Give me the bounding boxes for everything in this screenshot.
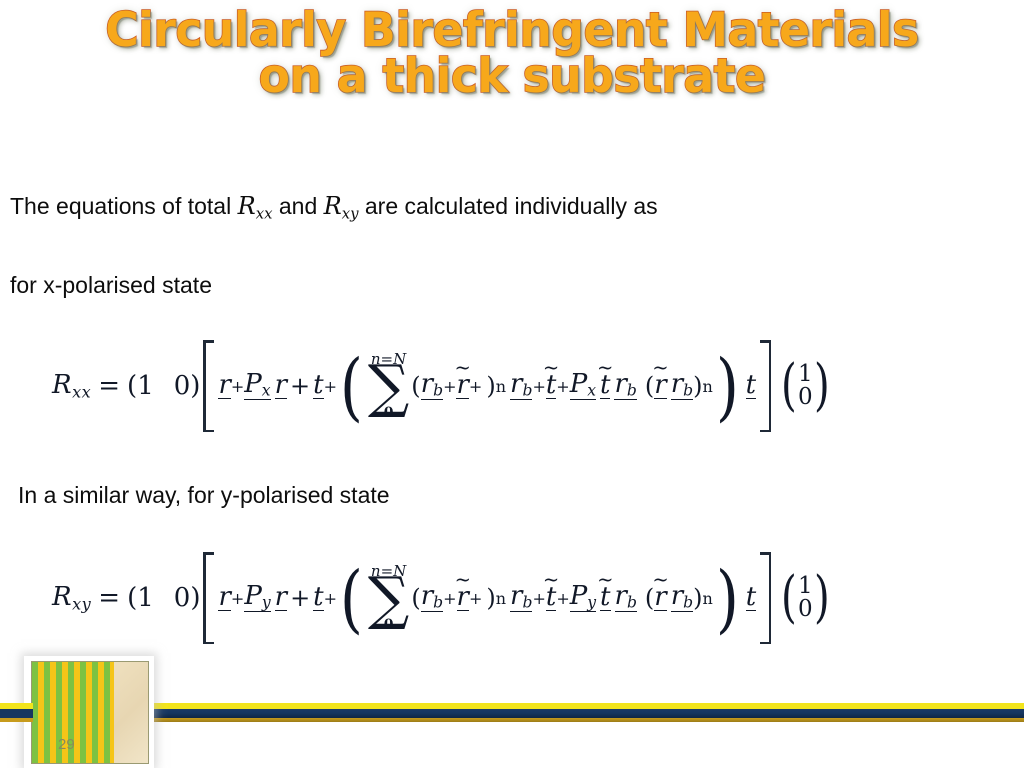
bracket-open-icon-2 — [203, 552, 215, 644]
rxx-subscript: xx — [256, 204, 273, 222]
lhs-subscript: xx — [72, 383, 91, 402]
inline-math-rxy: Rxy — [324, 192, 359, 220]
inner-P-subscript-2: y — [587, 593, 596, 611]
r2-symbol-2: r — [275, 582, 287, 612]
slide-title: Circularly Birefringent Materials on a t… — [0, 8, 1024, 100]
intro-prefix: The equations of total — [10, 193, 238, 219]
bracket-close-icon — [759, 340, 771, 432]
sum-lower-limit: 0 — [384, 406, 394, 420]
tilde-icon-6: ~ — [543, 571, 559, 590]
inner-term-rb-3: rb — [614, 372, 636, 400]
sigma-icon-2: ∑ — [368, 575, 409, 621]
t-final-symbol: t — [746, 370, 756, 400]
term-P-y: Py — [244, 584, 270, 612]
row-vector-2-item-1: 0 — [174, 583, 191, 613]
term-P-x: Px — [244, 372, 270, 400]
rb3-subscript-2: b — [627, 593, 637, 611]
equals-sign-2: = — [91, 583, 127, 613]
rb2-symbol-2: r — [510, 581, 522, 611]
inner-paren-open: ( — [411, 372, 420, 400]
rb2-superscript: + — [532, 377, 545, 396]
term-r: r — [275, 373, 287, 400]
r-dagger-superscript: + — [231, 377, 244, 396]
t-tilde-superscript: + — [556, 377, 569, 396]
multilayer-slab — [31, 661, 149, 764]
tilde-icon-8: ~ — [652, 571, 668, 590]
r-symbol: r — [218, 370, 230, 400]
inner-paren-close-4: ) — [693, 584, 702, 612]
inner-term-rb-4: rb — [671, 372, 693, 400]
inner-term-rb-7: rb — [615, 584, 637, 612]
paren-close-icon: ) — [716, 365, 739, 411]
rb2-superscript-2: + — [532, 589, 545, 608]
inner-term-rb-5: rb — [421, 584, 443, 612]
title-line-2: on a thick substrate — [15, 54, 1008, 100]
exponent-n-2: n — [702, 377, 712, 396]
paren-close-icon-2: ) — [716, 577, 739, 623]
exponent-n: n — [496, 377, 506, 396]
col-vector-2-item-0: 1 — [798, 575, 813, 598]
x-polarised-label: for x-polarised state — [10, 272, 212, 299]
column-vector-2: ( 1 0 ) — [778, 575, 832, 622]
exponent-n-4: n — [703, 589, 713, 608]
row-vector-2: (10) — [127, 583, 200, 613]
inner-term-t-tilde: ~t — [546, 373, 556, 400]
inner-paren-close-3: ) — [486, 584, 495, 612]
intro-middle: and — [272, 193, 323, 219]
term-t-dagger: t — [313, 373, 323, 400]
paren-open-icon-2: ( — [340, 577, 363, 623]
r-dagger-superscript-2: + — [231, 589, 244, 608]
sigma-icon: ∑ — [368, 363, 409, 409]
equals-sign: = — [91, 371, 127, 401]
incoming-beam-segment — [0, 703, 33, 723]
term-t-final: t — [746, 373, 756, 400]
inner-paren-close: ) — [486, 372, 495, 400]
r-symbol-2: r — [218, 582, 230, 612]
summation-2: n=N ∑ 0 — [368, 564, 409, 631]
rb2-subscript: b — [522, 381, 532, 399]
rb2-subscript-2: b — [522, 593, 532, 611]
inner-term-r-tilde-4: ~r — [654, 585, 666, 612]
rb-superscript: + — [443, 377, 456, 396]
t-dagger-superscript-2: + — [324, 589, 337, 608]
colvec-2-paren-open: ( — [781, 581, 797, 616]
lhs-symbol-2: R — [52, 582, 72, 612]
slide-number: 29 — [58, 736, 75, 753]
rb-subscript: b — [433, 381, 443, 399]
paren-open-icon: ( — [340, 365, 363, 411]
inner-P-symbol-2: P — [570, 581, 588, 611]
term-r-dagger: r — [218, 373, 230, 400]
P-symbol-2: P — [244, 581, 262, 611]
t-symbol-2: t — [313, 582, 323, 612]
inner-term-P: Px — [570, 372, 596, 400]
plus-operator-2: + — [287, 584, 313, 612]
r-tilde-superscript: + — [469, 377, 482, 396]
rb-symbol-2: r — [421, 581, 433, 611]
tilde-icon-3: ~ — [597, 359, 613, 378]
equation-lhs: Rxx — [52, 370, 91, 402]
lhs-symbol: R — [52, 370, 72, 400]
inner-term-t-tilde-2: ~t — [600, 373, 610, 400]
incoming-beam-gold — [0, 718, 33, 722]
t-tilde-superscript-2: + — [556, 589, 569, 608]
rb-symbol: r — [421, 369, 433, 399]
colvec-2-paren-close: ) — [814, 581, 830, 616]
incoming-beam-navy — [0, 709, 33, 718]
rxy-symbol: R — [324, 192, 342, 220]
inner-term-rb: rb — [421, 372, 443, 400]
summation: n=N ∑ 0 — [368, 352, 409, 419]
rb4-subscript-2: b — [683, 593, 693, 611]
exponent-n-3: n — [496, 589, 506, 608]
rxx-symbol: R — [238, 192, 256, 220]
rb3-subscript: b — [627, 381, 637, 399]
intro-paragraph: The equations of total Rxx and Rxy are c… — [10, 192, 658, 222]
inner-term-rb-2: rb — [510, 372, 532, 400]
tilde-icon-4: ~ — [652, 359, 668, 378]
title-line-1: Circularly Birefringent Materials — [15, 8, 1008, 54]
inner-term-rb-8: rb — [671, 584, 693, 612]
term-r-dagger-2: r — [218, 585, 230, 612]
P-symbol: P — [244, 369, 262, 399]
term-t-dagger-2: t — [313, 585, 323, 612]
column-vector: ( 1 0 ) — [778, 363, 832, 410]
rb4-symbol: r — [671, 369, 683, 399]
inner-term-t-tilde-3: ~t — [546, 585, 556, 612]
inner-P-subscript: x — [587, 381, 596, 399]
P-subscript-2: y — [262, 593, 271, 611]
col-vector-item-0: 1 — [798, 363, 813, 386]
rb2-symbol: r — [510, 369, 522, 399]
rb3-symbol: r — [614, 369, 626, 399]
row-vector: (10) — [127, 371, 200, 401]
equation-lhs-2: Rxy — [52, 582, 91, 614]
rb4-subscript: b — [683, 381, 693, 399]
bracket-close-icon-2 — [759, 552, 771, 644]
rb-superscript-2: + — [443, 589, 456, 608]
t-dagger-superscript: + — [324, 377, 337, 396]
col-vector-2-item-1: 0 — [798, 598, 813, 621]
inner-paren-open-3: ( — [411, 584, 420, 612]
tilde-icon-2: ~ — [543, 359, 559, 378]
row-vector-item-0: 1 — [137, 371, 154, 401]
bracket-open-icon — [203, 340, 215, 432]
y-polarised-label: In a similar way, for y-polarised state — [18, 482, 390, 509]
row-vector-2-item-0: 1 — [137, 583, 154, 613]
tilde-icon: ~ — [455, 359, 471, 378]
row-vector-item-1: 0 — [174, 371, 191, 401]
t-symbol: t — [313, 370, 323, 400]
colvec-paren-close: ) — [814, 369, 830, 404]
r-tilde-superscript-2: + — [469, 589, 482, 608]
inner-P-symbol: P — [570, 369, 588, 399]
rxy-subscript: xy — [342, 204, 359, 222]
inner-term-rb-6: rb — [510, 584, 532, 612]
inner-term-P-2: Py — [570, 584, 596, 612]
equation-rxx: Rxx = (10) r+Pxr + t+ ( n=N ∑ 0 (rb+~r+)… — [52, 340, 832, 432]
plus-operator: + — [287, 372, 313, 400]
rb3-symbol-2: r — [615, 581, 627, 611]
inline-math-rxx: Rxx — [238, 192, 273, 220]
inner-term-r-tilde: ~r — [456, 373, 468, 400]
inner-term-r-tilde-2: ~r — [654, 373, 666, 400]
inner-paren-close-2: ) — [693, 372, 702, 400]
inner-term-t-tilde-4: ~t — [600, 585, 610, 612]
col-vector-item-1: 0 — [798, 386, 813, 409]
tilde-icon-7: ~ — [597, 571, 613, 590]
term-r-2: r — [275, 585, 287, 612]
tilde-icon-5: ~ — [455, 571, 471, 590]
thick-substrate — [114, 662, 148, 763]
lhs-subscript-2: xy — [72, 595, 91, 614]
term-t-final-2: t — [746, 585, 756, 612]
r2-symbol: r — [275, 370, 287, 400]
t-final-symbol-2: t — [746, 582, 756, 612]
rb4-symbol-2: r — [671, 581, 683, 611]
inner-term-r-tilde-3: ~r — [457, 585, 469, 612]
intro-suffix: are calculated individually as — [359, 193, 658, 219]
equation-rxy: Rxy = (10) r+Pyr + t+ ( n=N ∑ 0 (rb+~r+)… — [52, 552, 833, 644]
sum-lower-limit-2: 0 — [384, 618, 394, 632]
colvec-paren-open: ( — [781, 369, 797, 404]
P-subscript: x — [262, 381, 271, 399]
rb-subscript-2: b — [433, 593, 443, 611]
